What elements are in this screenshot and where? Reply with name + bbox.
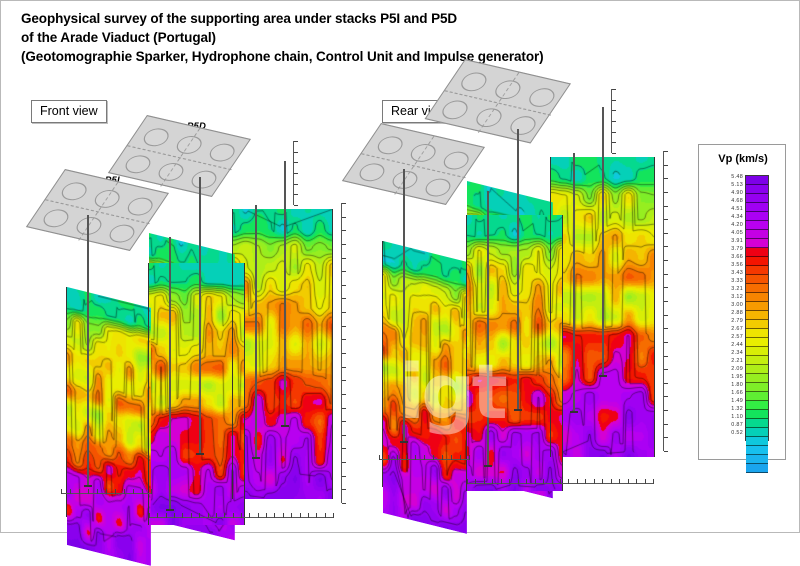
block-edge <box>232 209 233 499</box>
axis-tick <box>149 513 150 518</box>
axis-tick <box>294 141 298 142</box>
rod-cap <box>570 411 578 413</box>
axis-tick <box>316 513 317 518</box>
colorbar-tick-label: 1.32 <box>701 405 743 413</box>
block-edge <box>332 209 333 499</box>
axis-tick <box>79 489 80 494</box>
colorbar-tick-labels: 5.485.134.904.684.514.344.204.053.913.79… <box>701 173 743 437</box>
axis-tick <box>664 301 668 302</box>
figure-frame: Geophysical survey of the supporting are… <box>0 0 800 533</box>
axis-tick <box>342 203 346 204</box>
axis-tick <box>397 455 398 460</box>
axis-tick <box>342 326 346 327</box>
pile-marker <box>172 134 205 156</box>
borehole-rod <box>169 237 171 509</box>
axis-tick <box>294 162 298 163</box>
pile-marker <box>355 161 388 183</box>
colorbar-tick-label: 3.12 <box>701 293 743 301</box>
front-view-label: Front view <box>31 100 107 123</box>
colorbar-segment <box>746 401 768 410</box>
colorbar-segment <box>746 176 768 185</box>
colorbar-segment <box>746 356 768 365</box>
pile-marker <box>121 153 154 175</box>
axis-tick <box>460 455 461 460</box>
axis-tick <box>300 513 301 518</box>
rear-p5d-pile-cap <box>342 123 485 205</box>
block-edge <box>654 157 655 457</box>
borehole-rod <box>87 215 89 485</box>
axis-tick <box>191 513 192 518</box>
tomogram-image <box>149 263 245 525</box>
colorbar-segment <box>746 284 768 293</box>
axis-tick <box>142 489 143 494</box>
pile-marker <box>490 78 524 101</box>
colorbar-tick-label: 1.66 <box>701 389 743 397</box>
colorbar-tick-label: 1.80 <box>701 381 743 389</box>
pile-marker <box>388 169 421 191</box>
pile-marker <box>188 168 221 190</box>
axis-tick <box>151 489 152 494</box>
colorbar-segment <box>746 212 768 221</box>
axis-tick <box>342 258 346 259</box>
block-edge <box>148 263 149 525</box>
colorbar-gradient <box>745 175 769 441</box>
axis-tick <box>342 230 346 231</box>
colorbar-tick-label: 0.87 <box>701 421 743 429</box>
pile-marker <box>457 71 491 94</box>
axis-tick <box>664 233 668 234</box>
axis-tick <box>342 380 346 381</box>
axis-tick <box>501 479 502 484</box>
axis-tick <box>492 479 493 484</box>
pile-marker <box>440 150 473 172</box>
colorbar-tick-label: 4.05 <box>701 229 743 237</box>
tomogram-image <box>67 287 151 566</box>
axis-tick <box>664 315 668 316</box>
pile-marker <box>90 188 123 210</box>
axis-tick <box>294 152 298 153</box>
axis-tick <box>612 142 616 143</box>
colorbar-segment <box>746 230 768 239</box>
axis-tick <box>342 312 346 313</box>
borehole-rod <box>573 153 575 411</box>
colorbar-segment <box>746 194 768 203</box>
axis-tick <box>379 455 380 460</box>
pile-marker <box>72 215 105 237</box>
axis-tick <box>612 121 616 122</box>
axis-tick <box>291 513 292 518</box>
rod-cap <box>599 375 607 377</box>
colorbar-segment <box>746 203 768 212</box>
axis-tick <box>664 369 668 370</box>
axis-tick <box>342 339 346 340</box>
axis-tick <box>612 132 616 133</box>
axis-tick <box>535 479 536 484</box>
front-p5i-front-face <box>149 263 245 525</box>
colorbar-segment <box>746 446 768 455</box>
axis-tick <box>342 503 346 504</box>
borehole-rod <box>602 107 604 375</box>
axis-tick <box>552 479 553 484</box>
colorbar-tick-label: 4.51 <box>701 205 743 213</box>
axis-tick <box>585 479 586 484</box>
borehole-rod <box>487 191 489 465</box>
colorbar-segment <box>746 410 768 419</box>
front-oblique-axis <box>61 493 151 494</box>
colorbar-tick-label: 5.13 <box>701 181 743 189</box>
axis-tick <box>612 110 616 111</box>
front-horizontal-axis <box>149 517 333 518</box>
rear-p5d-side-face <box>383 241 467 534</box>
axis-tick <box>70 489 71 494</box>
pile-marker <box>373 134 406 156</box>
front-p5i-side-face <box>67 287 151 566</box>
axis-tick <box>518 479 519 484</box>
colorbar-tick-label: 2.44 <box>701 341 743 349</box>
axis-tick <box>628 479 629 484</box>
axis-tick <box>664 287 668 288</box>
axis-tick <box>664 342 668 343</box>
rod-cap <box>84 485 92 487</box>
axis-tick <box>619 479 620 484</box>
axis-tick <box>241 513 242 518</box>
front-depth-axis <box>341 203 342 503</box>
colorbar-segment <box>746 365 768 374</box>
axis-tick <box>664 165 668 166</box>
rear-horizontal-axis <box>467 483 653 484</box>
axis-tick <box>424 455 425 460</box>
axis-tick <box>308 513 309 518</box>
axis-tick <box>526 479 527 484</box>
axis-tick <box>664 246 668 247</box>
axis-tick <box>97 489 98 494</box>
rod-cap <box>252 457 260 459</box>
pile-marker <box>206 142 239 164</box>
colorbar-segment <box>746 428 768 437</box>
axis-tick <box>484 479 485 484</box>
colorbar-legend: Vp (km/s) 5.485.134.904.684.514.344.204.… <box>698 144 786 460</box>
axis-tick <box>664 151 668 152</box>
tomogram-image <box>383 241 467 534</box>
colorbar-tick-label: 2.88 <box>701 309 743 317</box>
axis-tick <box>283 513 284 518</box>
colorbar-segment <box>746 239 768 248</box>
colorbar-tick-label: 5.48 <box>701 173 743 181</box>
axis-tick <box>294 205 298 206</box>
axis-tick <box>342 394 346 395</box>
axis-tick <box>333 513 334 518</box>
axis-tick <box>342 421 346 422</box>
axis-tick <box>342 244 346 245</box>
rear-depth-axis <box>663 151 664 451</box>
axis-tick <box>602 479 603 484</box>
axis-tick <box>106 489 107 494</box>
colorbar-tick-label: 4.20 <box>701 221 743 229</box>
rod-cap <box>484 465 492 467</box>
axis-tick <box>568 479 569 484</box>
axis-tick <box>612 153 616 154</box>
axis-tick <box>451 455 452 460</box>
front-view-panel: Front view P5I P5D <box>1 1 361 534</box>
pile-marker <box>124 196 157 218</box>
colorbar-tick-label: 4.68 <box>701 197 743 205</box>
axis-tick <box>216 513 217 518</box>
pile-marker <box>422 176 455 198</box>
block-edge <box>382 241 383 487</box>
colorbar-segment <box>746 185 768 194</box>
axis-tick <box>406 455 407 460</box>
axis-tick <box>433 455 434 460</box>
axis-tick <box>294 194 298 195</box>
axis-tick <box>199 513 200 518</box>
colorbar-segment <box>746 419 768 428</box>
axis-tick <box>645 479 646 484</box>
pile-marker <box>472 106 506 129</box>
pile-marker <box>139 126 172 148</box>
axis-tick <box>664 383 668 384</box>
pile-marker <box>506 114 540 137</box>
colorbar-segment <box>746 248 768 257</box>
colorbar-tick-label: 3.00 <box>701 301 743 309</box>
axis-tick <box>664 328 668 329</box>
colorbar-tick-label: 3.91 <box>701 237 743 245</box>
block-edge <box>562 215 563 491</box>
axis-tick <box>182 513 183 518</box>
axis-tick <box>543 479 544 484</box>
axis-tick <box>342 285 346 286</box>
axis-tick <box>174 513 175 518</box>
front-p5d-front-face <box>233 209 333 499</box>
borehole-rod <box>403 169 405 441</box>
axis-tick <box>664 424 668 425</box>
borehole-rod <box>199 177 201 453</box>
axis-tick <box>664 274 668 275</box>
axis-tick <box>342 489 346 490</box>
rod-cap <box>514 409 522 411</box>
colorbar-tick-label: 2.09 <box>701 365 743 373</box>
colorbar-tick-label: 2.67 <box>701 325 743 333</box>
colorbar-tick-label: 4.90 <box>701 189 743 197</box>
colorbar-segment <box>746 347 768 356</box>
axis-tick <box>249 513 250 518</box>
axis-tick <box>415 455 416 460</box>
block-edge <box>66 287 67 517</box>
colorbar-tick-label: 2.57 <box>701 333 743 341</box>
axis-tick <box>342 435 346 436</box>
axis-tick <box>664 260 668 261</box>
colorbar-segment <box>746 257 768 266</box>
axis-tick <box>342 271 346 272</box>
colorbar-tick-label: 3.79 <box>701 245 743 253</box>
axis-tick <box>577 479 578 484</box>
tomogram-image <box>233 209 333 499</box>
axis-tick <box>157 513 158 518</box>
axis-tick <box>294 173 298 174</box>
axis-tick <box>664 206 668 207</box>
rear-oblique-axis <box>379 459 469 460</box>
axis-tick <box>612 89 616 90</box>
axis-tick <box>61 489 62 494</box>
axis-tick <box>664 396 668 397</box>
axis-tick <box>224 513 225 518</box>
axis-tick <box>664 356 668 357</box>
colorbar-tick-label: 1.95 <box>701 373 743 381</box>
block-edge <box>466 215 467 491</box>
colorbar-tick-label: 1.10 <box>701 413 743 421</box>
colorbar-segment <box>746 437 768 446</box>
axis-tick <box>258 513 259 518</box>
axis-tick <box>342 367 346 368</box>
borehole-rod <box>517 129 519 409</box>
colorbar-segment <box>746 320 768 329</box>
colorbar-tick-label: 3.66 <box>701 253 743 261</box>
axis-tick <box>612 100 616 101</box>
colorbar-segment <box>746 338 768 347</box>
colorbar-segment <box>746 455 768 464</box>
pile-marker <box>438 98 472 121</box>
axis-tick <box>342 298 346 299</box>
colorbar-segment <box>746 329 768 338</box>
rear-p5i-pile-cap <box>425 59 571 143</box>
rod-cap <box>400 441 408 443</box>
block-edge <box>550 157 551 457</box>
axis-tick <box>469 455 470 460</box>
colorbar-title: Vp (km/s) <box>699 153 787 165</box>
axis-tick <box>325 513 326 518</box>
colorbar-tick-label: 0.52 <box>701 429 743 437</box>
colorbar-tick-label: 4.34 <box>701 213 743 221</box>
axis-tick <box>342 353 346 354</box>
axis-tick <box>636 479 637 484</box>
axis-tick <box>442 455 443 460</box>
colorbar-tick-label: 2.34 <box>701 349 743 357</box>
pile-marker <box>406 142 439 164</box>
colorbar-segment <box>746 302 768 311</box>
axis-tick <box>664 410 668 411</box>
rear-top-axis <box>611 89 612 153</box>
axis-tick <box>509 479 510 484</box>
axis-tick <box>342 476 346 477</box>
borehole-rod <box>284 161 286 425</box>
axis-tick <box>208 513 209 518</box>
axis-tick <box>611 479 612 484</box>
colorbar-tick-label: 2.79 <box>701 317 743 325</box>
colorbar-segment <box>746 266 768 275</box>
axis-tick <box>88 489 89 494</box>
colorbar-segment <box>746 293 768 302</box>
axis-tick <box>294 184 298 185</box>
colorbar-segment <box>746 275 768 284</box>
colorbar-segment <box>746 383 768 392</box>
axis-tick <box>274 513 275 518</box>
axis-tick <box>115 489 116 494</box>
axis-tick <box>664 437 668 438</box>
colorbar-tick-label: 1.49 <box>701 397 743 405</box>
rear-view-panel: Rear view P5D P5I <box>361 1 701 534</box>
block-edge <box>244 263 245 525</box>
axis-tick <box>342 462 346 463</box>
tomogram-image <box>467 215 563 491</box>
rod-cap <box>281 425 289 427</box>
axis-tick <box>594 479 595 484</box>
colorbar-tick-label: 3.21 <box>701 285 743 293</box>
pile-marker <box>57 180 90 202</box>
colorbar-tick-label: 3.56 <box>701 261 743 269</box>
axis-tick <box>342 217 346 218</box>
axis-tick <box>342 448 346 449</box>
colorbar-segment <box>746 392 768 401</box>
borehole-rod <box>255 205 257 457</box>
colorbar-segment <box>746 374 768 383</box>
axis-tick <box>342 408 346 409</box>
axis-tick <box>388 455 389 460</box>
pile-marker <box>39 207 72 229</box>
pile-marker <box>106 222 139 244</box>
axis-tick <box>475 479 476 484</box>
rear-p5d-front-face <box>467 215 563 491</box>
colorbar-tick-label: 3.43 <box>701 269 743 277</box>
axis-tick <box>133 489 134 494</box>
colorbar-segment <box>746 464 768 473</box>
colorbar-segment <box>746 311 768 320</box>
axis-tick <box>233 513 234 518</box>
axis-tick <box>467 479 468 484</box>
rod-cap <box>166 509 174 511</box>
axis-tick <box>664 192 668 193</box>
colorbar-tick-label: 2.21 <box>701 357 743 365</box>
pile-marker <box>154 161 187 183</box>
colorbar-tick-label: 3.33 <box>701 277 743 285</box>
rod-cap <box>196 453 204 455</box>
axis-tick <box>664 219 668 220</box>
axis-tick <box>124 489 125 494</box>
axis-tick <box>166 513 167 518</box>
axis-tick <box>664 178 668 179</box>
axis-tick <box>266 513 267 518</box>
pile-marker <box>524 86 558 109</box>
colorbar-segment <box>746 221 768 230</box>
axis-tick <box>560 479 561 484</box>
front-top-axis <box>293 141 294 205</box>
axis-tick <box>653 479 654 484</box>
axis-tick <box>664 451 668 452</box>
